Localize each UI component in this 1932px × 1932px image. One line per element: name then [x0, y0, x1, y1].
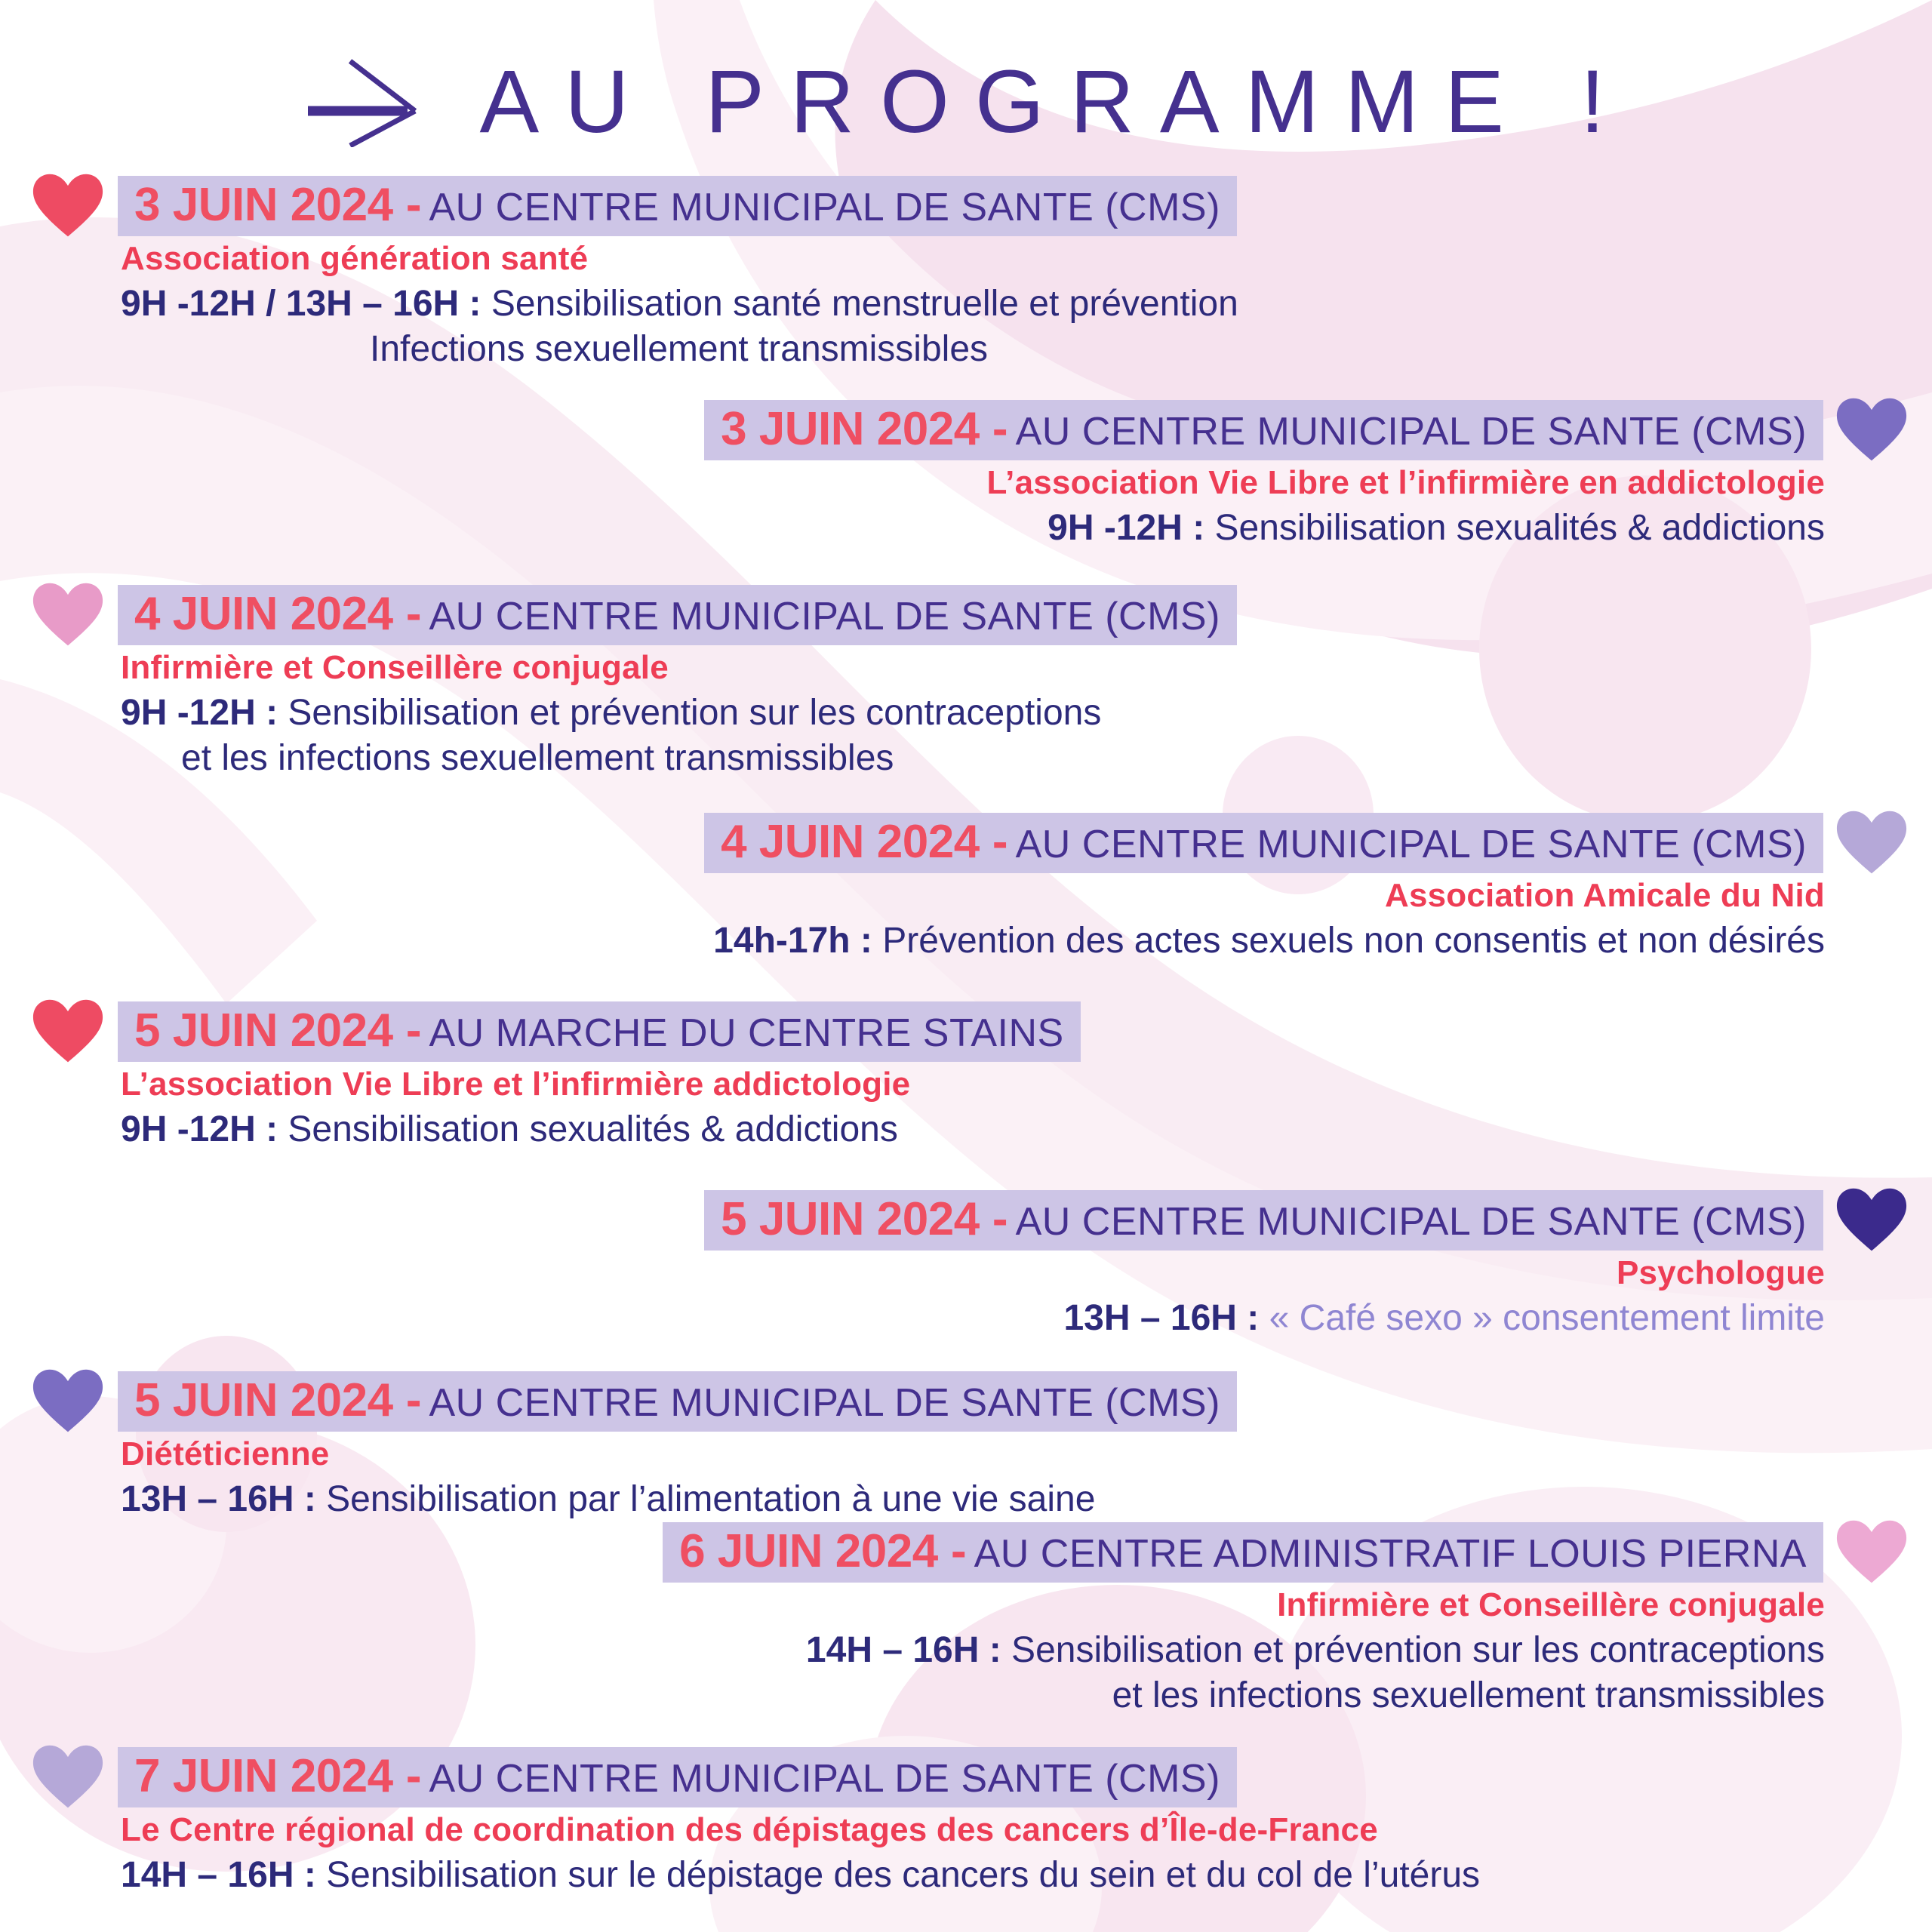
entry-session-desc: Prévention des actes sexuels non consent… [872, 921, 1825, 961]
heart-icon [1835, 809, 1908, 877]
entry-organisation: Association génération santé [0, 240, 1932, 278]
entry-band: 7 JUIN 2024 -AU CENTRE MUNICIPAL DE SANT… [118, 1747, 1237, 1807]
entry-session-line: et les infections sexuellement transmiss… [0, 736, 1932, 781]
entry-session-desc: Sensibilisation sexualités & addictions [1204, 508, 1825, 548]
entry-band-row: 5 JUIN 2024 -AU CENTRE MUNICIPAL DE SANT… [0, 1186, 1932, 1254]
entry-organisation: Association Amicale du Nid [0, 877, 1932, 915]
entry-venue: AU MARCHE DU CENTRE STAINS [429, 1011, 1064, 1055]
entry-session-desc: et les infections sexuellement transmiss… [181, 738, 894, 778]
entry-session-line: 9H -12H / 13H – 16H : Sensibilisation sa… [0, 281, 1932, 327]
entry-venue: AU CENTRE MUNICIPAL DE SANTE (CMS) [1016, 1200, 1807, 1244]
heart-icon [32, 172, 104, 240]
entry-sessions: 14H – 16H : Sensibilisation sur le dépis… [0, 1853, 1932, 1898]
entry-separator: - [393, 1004, 422, 1057]
entry-session-line: 14H – 16H : Sensibilisation sur le dépis… [0, 1853, 1932, 1898]
entry-session-line: 9H -12H : Sensibilisation sexualités & a… [0, 1107, 1932, 1152]
heart-icon [1835, 1186, 1908, 1254]
arrow-right-icon [302, 57, 430, 147]
entry-venue: AU CENTRE MUNICIPAL DE SANTE (CMS) [1016, 410, 1807, 454]
programme-entry: 4 JUIN 2024 -AU CENTRE MUNICIPAL DE SANT… [0, 809, 1932, 964]
entry-session-line: 9H -12H : Sensibilisation et prévention … [0, 691, 1932, 736]
entry-separator: - [980, 403, 1008, 455]
entry-band: 6 JUIN 2024 -AU CENTRE ADMINISTRATIF LOU… [663, 1522, 1823, 1583]
entry-sessions: 9H -12H / 13H – 16H : Sensibilisation sa… [0, 281, 1932, 373]
entry-organisation: Infirmière et Conseillère conjugale [0, 649, 1932, 688]
entry-session-desc: Sensibilisation santé menstruelle et pré… [481, 284, 1238, 324]
entry-band: 5 JUIN 2024 -AU CENTRE MUNICIPAL DE SANT… [704, 1190, 1823, 1251]
entry-session-desc: Infections sexuellement transmissibles [370, 329, 988, 369]
entry-organisation: L’association Vie Libre et l’infirmière … [0, 1066, 1932, 1104]
entry-venue: AU CENTRE MUNICIPAL DE SANTE (CMS) [429, 1757, 1220, 1801]
entry-sessions: 9H -12H : Sensibilisation sexualités & a… [0, 506, 1932, 551]
entry-venue: AU CENTRE ADMINISTRATIF LOUIS PIERNA [974, 1532, 1807, 1576]
entry-organisation: Infirmière et Conseillère conjugale [0, 1586, 1932, 1625]
entry-session-time: 14H – 16H : [121, 1855, 316, 1895]
entry-separator: - [980, 816, 1008, 868]
programme-entry: 5 JUIN 2024 -AU CENTRE MUNICIPAL DE SANT… [0, 1367, 1932, 1522]
entry-separator: - [393, 588, 422, 640]
programme-entry: 6 JUIN 2024 -AU CENTRE ADMINISTRATIF LOU… [0, 1518, 1932, 1719]
heart-icon [32, 1367, 104, 1435]
entry-session-line: Infections sexuellement transmissibles [0, 327, 1932, 372]
entry-date: 7 JUIN 2024 [134, 1750, 393, 1802]
entry-band: 5 JUIN 2024 -AU CENTRE MUNICIPAL DE SANT… [118, 1371, 1237, 1432]
entry-date: 5 JUIN 2024 [134, 1004, 393, 1057]
entry-separator: - [393, 179, 422, 231]
entry-band-row: 5 JUIN 2024 -AU MARCHE DU CENTRE STAINS [0, 998, 1932, 1066]
entry-venue: AU CENTRE MUNICIPAL DE SANTE (CMS) [429, 1381, 1220, 1425]
entry-band-row: 3 JUIN 2024 -AU CENTRE MUNICIPAL DE SANT… [0, 396, 1932, 464]
entry-separator: - [393, 1750, 422, 1802]
entry-session-time: 13H – 16H : [121, 1479, 316, 1519]
entry-date: 5 JUIN 2024 [721, 1193, 980, 1245]
entry-session-line: 13H – 16H : Sensibilisation par l’alimen… [0, 1477, 1932, 1522]
heart-icon [1835, 1518, 1908, 1586]
programme-entry: 3 JUIN 2024 -AU CENTRE MUNICIPAL DE SANT… [0, 172, 1932, 373]
entry-band-row: 5 JUIN 2024 -AU CENTRE MUNICIPAL DE SANT… [0, 1367, 1932, 1435]
programme-entry: 7 JUIN 2024 -AU CENTRE MUNICIPAL DE SANT… [0, 1743, 1932, 1898]
heart-icon [32, 998, 104, 1066]
entry-band-row: 4 JUIN 2024 -AU CENTRE MUNICIPAL DE SANT… [0, 581, 1932, 649]
entry-session-line: 9H -12H : Sensibilisation sexualités & a… [0, 506, 1932, 551]
entry-band: 4 JUIN 2024 -AU CENTRE MUNICIPAL DE SANT… [704, 813, 1823, 873]
entry-venue: AU CENTRE MUNICIPAL DE SANTE (CMS) [429, 595, 1220, 638]
entry-session-time: 14h-17h : [713, 921, 872, 961]
entry-session-time: 9H -12H : [1048, 508, 1204, 548]
entry-sessions: 9H -12H : Sensibilisation sexualités & a… [0, 1107, 1932, 1152]
entry-venue: AU CENTRE MUNICIPAL DE SANTE (CMS) [429, 186, 1220, 229]
entry-session-desc: et les infections sexuellement transmiss… [1112, 1675, 1825, 1715]
entry-separator: - [938, 1525, 967, 1577]
entry-session-desc: Sensibilisation et prévention sur les co… [278, 693, 1101, 733]
entry-band: 4 JUIN 2024 -AU CENTRE MUNICIPAL DE SANT… [118, 585, 1237, 645]
page-header: AU PROGRAMME ! [0, 30, 1932, 174]
entry-sessions: 9H -12H : Sensibilisation et prévention … [0, 691, 1932, 782]
entry-session-desc: Sensibilisation par l’alimentation à une… [316, 1479, 1096, 1519]
entry-date: 5 JUIN 2024 [134, 1374, 393, 1426]
entry-venue: AU CENTRE MUNICIPAL DE SANTE (CMS) [1016, 823, 1807, 866]
entry-session-line: 13H – 16H : « Café sexo » consentement l… [0, 1296, 1932, 1341]
entry-session-time: 9H -12H : [121, 1109, 278, 1149]
entry-session-line: 14h-17h : Prévention des actes sexuels n… [0, 918, 1932, 964]
entry-session-desc: Sensibilisation et prévention sur les co… [1001, 1630, 1825, 1670]
entry-date: 4 JUIN 2024 [721, 816, 980, 868]
entry-band-row: 6 JUIN 2024 -AU CENTRE ADMINISTRATIF LOU… [0, 1518, 1932, 1586]
entry-separator: - [980, 1193, 1008, 1245]
page-title: AU PROGRAMME ! [480, 57, 1631, 146]
entry-session-time: 9H -12H : [121, 693, 278, 733]
entry-sessions: 14H – 16H : Sensibilisation et préventio… [0, 1628, 1932, 1719]
entry-session-desc: Sensibilisation sur le dépistage des can… [316, 1855, 1480, 1895]
programme-entry: 5 JUIN 2024 -AU MARCHE DU CENTRE STAINSL… [0, 998, 1932, 1152]
entry-organisation: Diététicienne [0, 1435, 1932, 1474]
entry-separator: - [393, 1374, 422, 1426]
entry-session-line: 14H – 16H : Sensibilisation et préventio… [0, 1628, 1932, 1673]
entry-organisation: Le Centre régional de coordination des d… [0, 1811, 1932, 1850]
entry-sessions: 14h-17h : Prévention des actes sexuels n… [0, 918, 1932, 964]
entry-sessions: 13H – 16H : « Café sexo » consentement l… [0, 1296, 1932, 1341]
entry-date: 6 JUIN 2024 [679, 1525, 938, 1577]
entry-band-row: 4 JUIN 2024 -AU CENTRE MUNICIPAL DE SANT… [0, 809, 1932, 877]
entry-organisation: Psychologue [0, 1254, 1932, 1293]
entry-session-time: 9H -12H / 13H – 16H : [121, 284, 481, 324]
entry-date: 3 JUIN 2024 [134, 179, 393, 231]
entry-date: 3 JUIN 2024 [721, 403, 980, 455]
heart-icon [1835, 396, 1908, 464]
entry-band: 3 JUIN 2024 -AU CENTRE MUNICIPAL DE SANT… [118, 176, 1237, 236]
programme-poster: AU PROGRAMME ! 3 JUIN 2024 -AU CENTRE MU… [0, 0, 1932, 1932]
entry-session-desc: « Café sexo » consentement limite [1259, 1298, 1825, 1338]
entry-sessions: 13H – 16H : Sensibilisation par l’alimen… [0, 1477, 1932, 1522]
entry-date: 4 JUIN 2024 [134, 588, 393, 640]
heart-icon [32, 581, 104, 649]
programme-entry: 5 JUIN 2024 -AU CENTRE MUNICIPAL DE SANT… [0, 1186, 1932, 1341]
entry-band-row: 7 JUIN 2024 -AU CENTRE MUNICIPAL DE SANT… [0, 1743, 1932, 1811]
entry-session-time: 13H – 16H : [1063, 1298, 1259, 1338]
heart-icon [32, 1743, 104, 1811]
entry-band: 5 JUIN 2024 -AU MARCHE DU CENTRE STAINS [118, 1001, 1081, 1062]
entry-band-row: 3 JUIN 2024 -AU CENTRE MUNICIPAL DE SANT… [0, 172, 1932, 240]
entry-session-line: et les infections sexuellement transmiss… [0, 1673, 1932, 1718]
entry-session-time: 14H – 16H : [806, 1630, 1001, 1670]
programme-entry: 3 JUIN 2024 -AU CENTRE MUNICIPAL DE SANT… [0, 396, 1932, 551]
entry-session-desc: Sensibilisation sexualités & addictions [278, 1109, 898, 1149]
entry-organisation: L’association Vie Libre et l’infirmière … [0, 464, 1932, 503]
entry-band: 3 JUIN 2024 -AU CENTRE MUNICIPAL DE SANT… [704, 400, 1823, 460]
programme-entry: 4 JUIN 2024 -AU CENTRE MUNICIPAL DE SANT… [0, 581, 1932, 782]
